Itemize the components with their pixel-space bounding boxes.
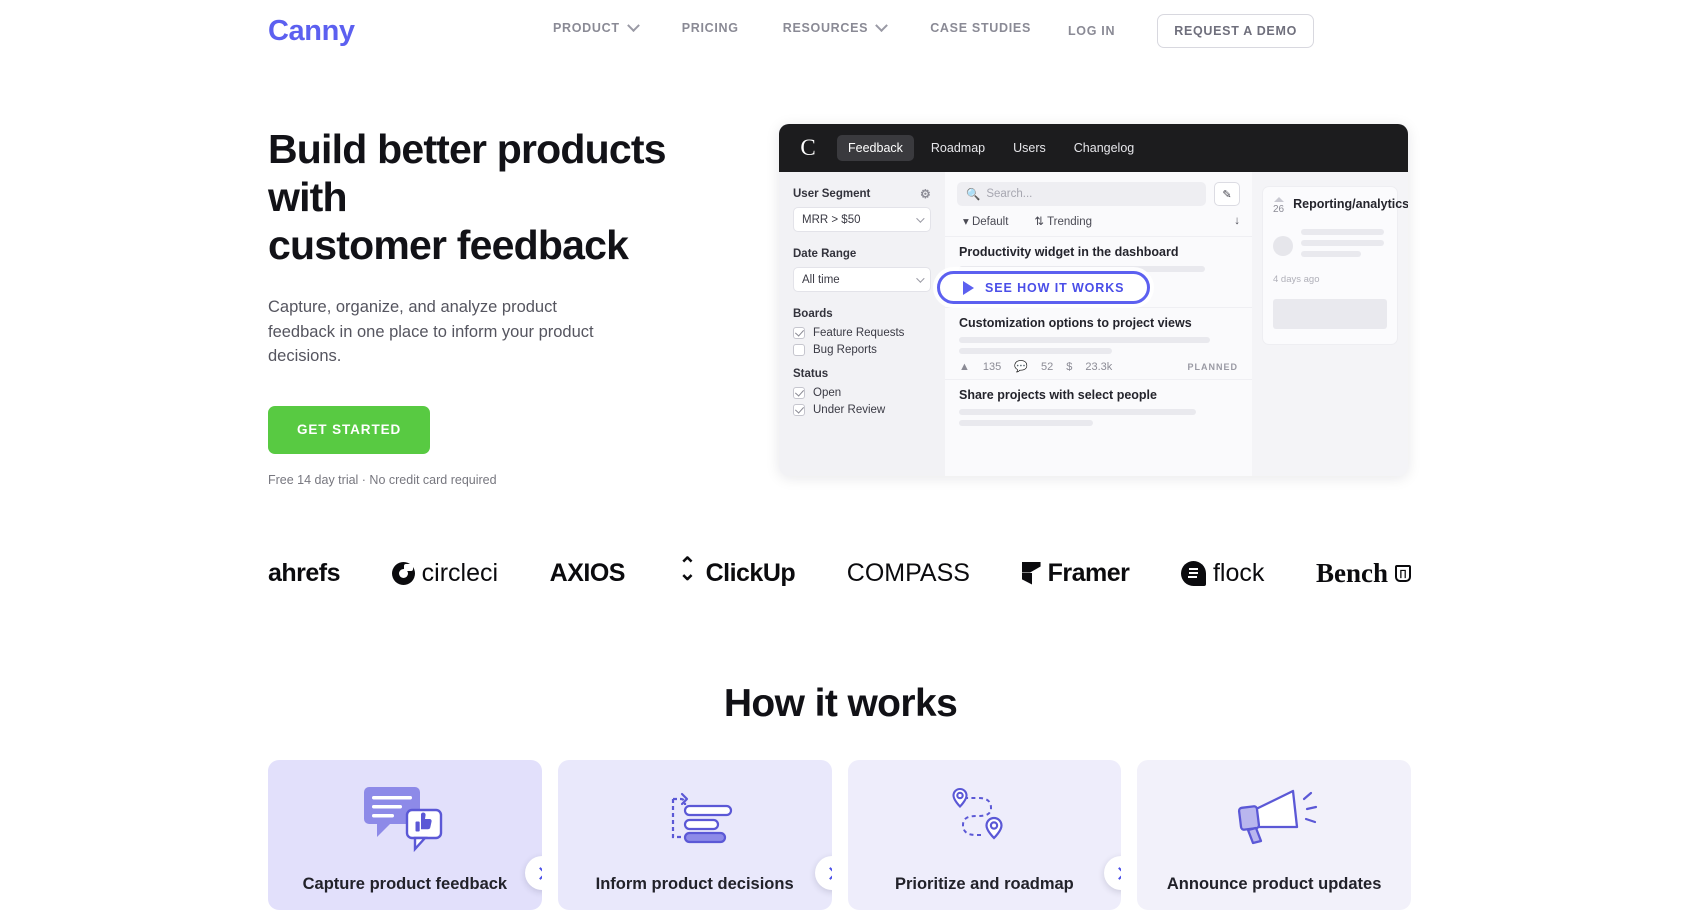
boards-label: Boards: [793, 308, 931, 320]
logo-axios: AXIOS: [550, 559, 625, 588]
app-filter-row: ▾ Default ⇅ Trending ↓: [945, 206, 1252, 236]
hero-heading-line1: Build better products: [268, 126, 666, 172]
app-tab-feedback[interactable]: Feedback: [837, 135, 914, 161]
date-range-label: Date Range: [793, 248, 931, 260]
chevron-right-icon: [534, 867, 542, 880]
flock-mark-icon: [1181, 561, 1206, 586]
nav-item-pricing[interactable]: PRICING: [682, 21, 739, 35]
board-label: Bug Reports: [813, 344, 877, 356]
card-announce-product-updates[interactable]: Announce product updates: [1137, 760, 1411, 910]
chevron-down-icon: [916, 274, 924, 282]
status-label: Status: [793, 368, 931, 380]
post-skeleton-line: [959, 348, 1112, 354]
logo-clickup-text: ClickUp: [706, 559, 796, 588]
detail-header: 26 Reporting/analytics: [1273, 197, 1387, 215]
chevron-down-icon: [627, 19, 640, 32]
user-segment-label-row: User Segment ⚙: [793, 188, 931, 200]
page-root: Canny PRODUCT PRICING RESOURCES CASE STU…: [0, 0, 1681, 910]
logo-flock-text: flock: [1213, 559, 1264, 588]
request-demo-button[interactable]: REQUEST A DEMO: [1157, 14, 1314, 48]
user-segment-select[interactable]: MRR > $50: [793, 207, 931, 232]
detail-timestamp: 4 days ago: [1273, 274, 1387, 285]
detail-skeleton: [1273, 299, 1387, 334]
play-icon: [963, 281, 974, 295]
board-feature-requests[interactable]: Feature Requests: [793, 327, 931, 339]
post-meta: ▲ 135 💬 52 $ 23.3k PLANNED: [959, 360, 1238, 373]
checkbox-icon[interactable]: [793, 327, 805, 339]
feedback-bubble-icon: [268, 760, 542, 875]
primary-nav: PRODUCT PRICING RESOURCES CASE STUDIES: [553, 21, 1075, 35]
detail-card: 26 Reporting/analytics 4 days ago: [1262, 186, 1398, 345]
post-status-badge: PLANNED: [1187, 362, 1238, 372]
nav-label: PRODUCT: [553, 21, 620, 35]
post-title: Productivity widget in the dashboard: [959, 245, 1238, 259]
customer-logo-bar: ahrefs circleci AXIOS ClickUp COMPASS Fr…: [268, 545, 1411, 601]
logo-framer: Framer: [1022, 559, 1130, 588]
search-icon: 🔍: [966, 187, 980, 201]
chevron-down-icon: [916, 214, 924, 222]
logo-compass: COMPASS: [847, 559, 970, 588]
detail-skeleton-line: [1301, 251, 1361, 257]
logo-clickup: ClickUp: [677, 559, 796, 588]
app-tab-roadmap[interactable]: Roadmap: [920, 135, 996, 161]
post-comment-count: 52: [1041, 361, 1053, 373]
route-pin-icon: [848, 760, 1122, 875]
hero-heading: Build better products with customer feed…: [268, 125, 698, 269]
filter-trending[interactable]: ⇅ Trending: [1034, 214, 1092, 228]
gear-icon[interactable]: ⚙: [920, 189, 931, 200]
logo-circleci-text: circleci: [422, 559, 498, 588]
detail-comment-row: [1273, 299, 1387, 334]
login-link[interactable]: LOG IN: [1068, 14, 1115, 48]
nav-item-resources[interactable]: RESOURCES: [783, 21, 886, 35]
detail-comment-row: [1273, 229, 1387, 262]
app-filter-sidebar: User Segment ⚙ MRR > $50 Date Range All …: [779, 172, 945, 476]
how-it-works-cards: Capture product feedback Inform product …: [268, 760, 1411, 910]
status-open[interactable]: Open: [793, 387, 931, 399]
detail-skeleton: [1301, 229, 1387, 262]
search-placeholder: Search...: [986, 188, 1032, 200]
filter-icon: ▾: [963, 216, 969, 228]
revenue-icon: $: [1066, 361, 1072, 373]
trial-note: Free 14 day trial · No credit card requi…: [268, 473, 698, 487]
list-arrow-icon: [558, 760, 832, 875]
logo-circleci: circleci: [392, 559, 498, 588]
filter-default-label: Default: [972, 216, 1008, 228]
user-segment-label: User Segment: [793, 188, 870, 200]
post-skeleton-line: [959, 420, 1093, 426]
app-tab-changelog[interactable]: Changelog: [1063, 135, 1145, 161]
date-range-select[interactable]: All time: [793, 267, 931, 292]
hero-content: Build better products with customer feed…: [268, 125, 698, 487]
chevron-right-icon: [824, 867, 832, 880]
post-item[interactable]: Customization options to project views ▲…: [945, 307, 1252, 379]
detail-vote-count: 26: [1273, 204, 1284, 215]
logo-axios-text: AXIOS: [550, 559, 625, 588]
detail-title: Reporting/analytics: [1293, 197, 1408, 211]
app-body: User Segment ⚙ MRR > $50 Date Range All …: [779, 172, 1408, 476]
app-tabs: Feedback Roadmap Users Changelog: [837, 135, 1145, 161]
app-topbar: C Feedback Roadmap Users Changelog: [779, 124, 1408, 172]
card-label: Inform product decisions: [596, 875, 794, 894]
nav-label: PRICING: [682, 21, 739, 35]
post-skeleton-line: [959, 409, 1196, 415]
card-capture-product-feedback[interactable]: Capture product feedback: [268, 760, 542, 910]
search-input[interactable]: 🔍 Search...: [957, 182, 1206, 206]
board-bug-reports[interactable]: Bug Reports: [793, 344, 931, 356]
date-range-value: All time: [802, 274, 840, 286]
post-title: Share projects with select people: [959, 388, 1238, 402]
header-actions: LOG IN REQUEST A DEMO: [1068, 14, 1314, 48]
nav-item-case-studies[interactable]: CASE STUDIES: [930, 21, 1031, 35]
logo-ahrefs: ahrefs: [268, 559, 340, 588]
see-how-it-works-button[interactable]: SEE HOW IT WORKS: [937, 271, 1150, 304]
card-prioritize-and-roadmap[interactable]: Prioritize and roadmap: [848, 760, 1122, 910]
board-label: Feature Requests: [813, 327, 904, 339]
detail-skeleton-block: [1273, 299, 1387, 329]
user-segment-value: MRR > $50: [802, 214, 860, 226]
compose-pencil-icon[interactable]: ✎: [1214, 182, 1240, 206]
logo-compass-text: COMPASS: [847, 559, 970, 588]
checkbox-icon[interactable]: [793, 404, 805, 416]
hero-subtitle: Capture, organize, and analyze product f…: [268, 295, 598, 369]
clickup-mark-icon: [677, 562, 699, 584]
post-title: Customization options to project views: [959, 316, 1238, 330]
avatar: [1273, 236, 1293, 256]
card-label: Prioritize and roadmap: [895, 875, 1074, 894]
site-header: Canny PRODUCT PRICING RESOURCES CASE STU…: [0, 0, 1681, 64]
logo-flock: flock: [1181, 559, 1264, 588]
card-label: Announce product updates: [1167, 875, 1382, 894]
see-how-it-works-label: SEE HOW IT WORKS: [985, 281, 1124, 295]
status-item-label: Open: [813, 387, 841, 399]
logo-framer-text: Framer: [1048, 559, 1130, 588]
post-vote-count: 135: [983, 361, 1001, 373]
logo-bench-text: Bench: [1316, 558, 1388, 589]
detail-vote[interactable]: 26: [1273, 197, 1284, 215]
nav-item-product[interactable]: PRODUCT: [553, 21, 638, 35]
detail-skeleton-line: [1301, 240, 1384, 246]
get-started-button[interactable]: GET STARTED: [268, 406, 430, 454]
how-it-works-title: How it works: [0, 682, 1681, 726]
logo-bench: Bench ∏: [1316, 558, 1411, 589]
sort-icon: ⇅: [1034, 216, 1044, 228]
megaphone-icon: [1137, 760, 1411, 875]
canny-mark-icon: C: [795, 135, 821, 161]
chevron-right-icon: [1113, 867, 1121, 880]
hero-heading-line2: with: [268, 174, 347, 220]
post-revenue: 23.3k: [1085, 361, 1112, 373]
circleci-mark-icon: [392, 562, 415, 585]
checkbox-icon[interactable]: [793, 387, 805, 399]
status-under-review[interactable]: Under Review: [793, 404, 931, 416]
download-icon[interactable]: ↓: [1234, 215, 1240, 227]
upvote-icon: ▲: [959, 361, 970, 373]
chevron-down-icon: [875, 19, 888, 32]
hero-heading-line3: customer feedback: [268, 222, 628, 268]
nav-label: RESOURCES: [783, 21, 868, 35]
checkbox-icon[interactable]: [793, 344, 805, 356]
bench-shield-icon: ∏: [1395, 565, 1411, 582]
brand-logo[interactable]: Canny: [268, 14, 355, 48]
status-item-label: Under Review: [813, 404, 885, 416]
card-label: Capture product feedback: [303, 875, 507, 894]
post-item[interactable]: Share projects with select people: [945, 379, 1252, 437]
app-tab-users[interactable]: Users: [1002, 135, 1057, 161]
card-inform-product-decisions[interactable]: Inform product decisions: [558, 760, 832, 910]
framer-mark-icon: [1022, 562, 1041, 585]
detail-skeleton-line: [1301, 229, 1384, 235]
nav-label: CASE STUDIES: [930, 21, 1031, 35]
upvote-icon: [1274, 197, 1284, 202]
comment-icon: 💬: [1014, 360, 1028, 373]
app-post-list: 🔍 Search... ✎ ▾ Default ⇅ Trending: [945, 172, 1252, 476]
post-skeleton-line: [959, 337, 1210, 343]
filter-default[interactable]: ▾ Default: [963, 214, 1008, 228]
filter-trending-label: Trending: [1047, 216, 1092, 228]
app-detail-panel: 26 Reporting/analytics 4 days ago: [1252, 172, 1408, 476]
app-search-row: 🔍 Search... ✎: [945, 172, 1252, 206]
logo-ahrefs-text: ahrefs: [268, 559, 340, 588]
